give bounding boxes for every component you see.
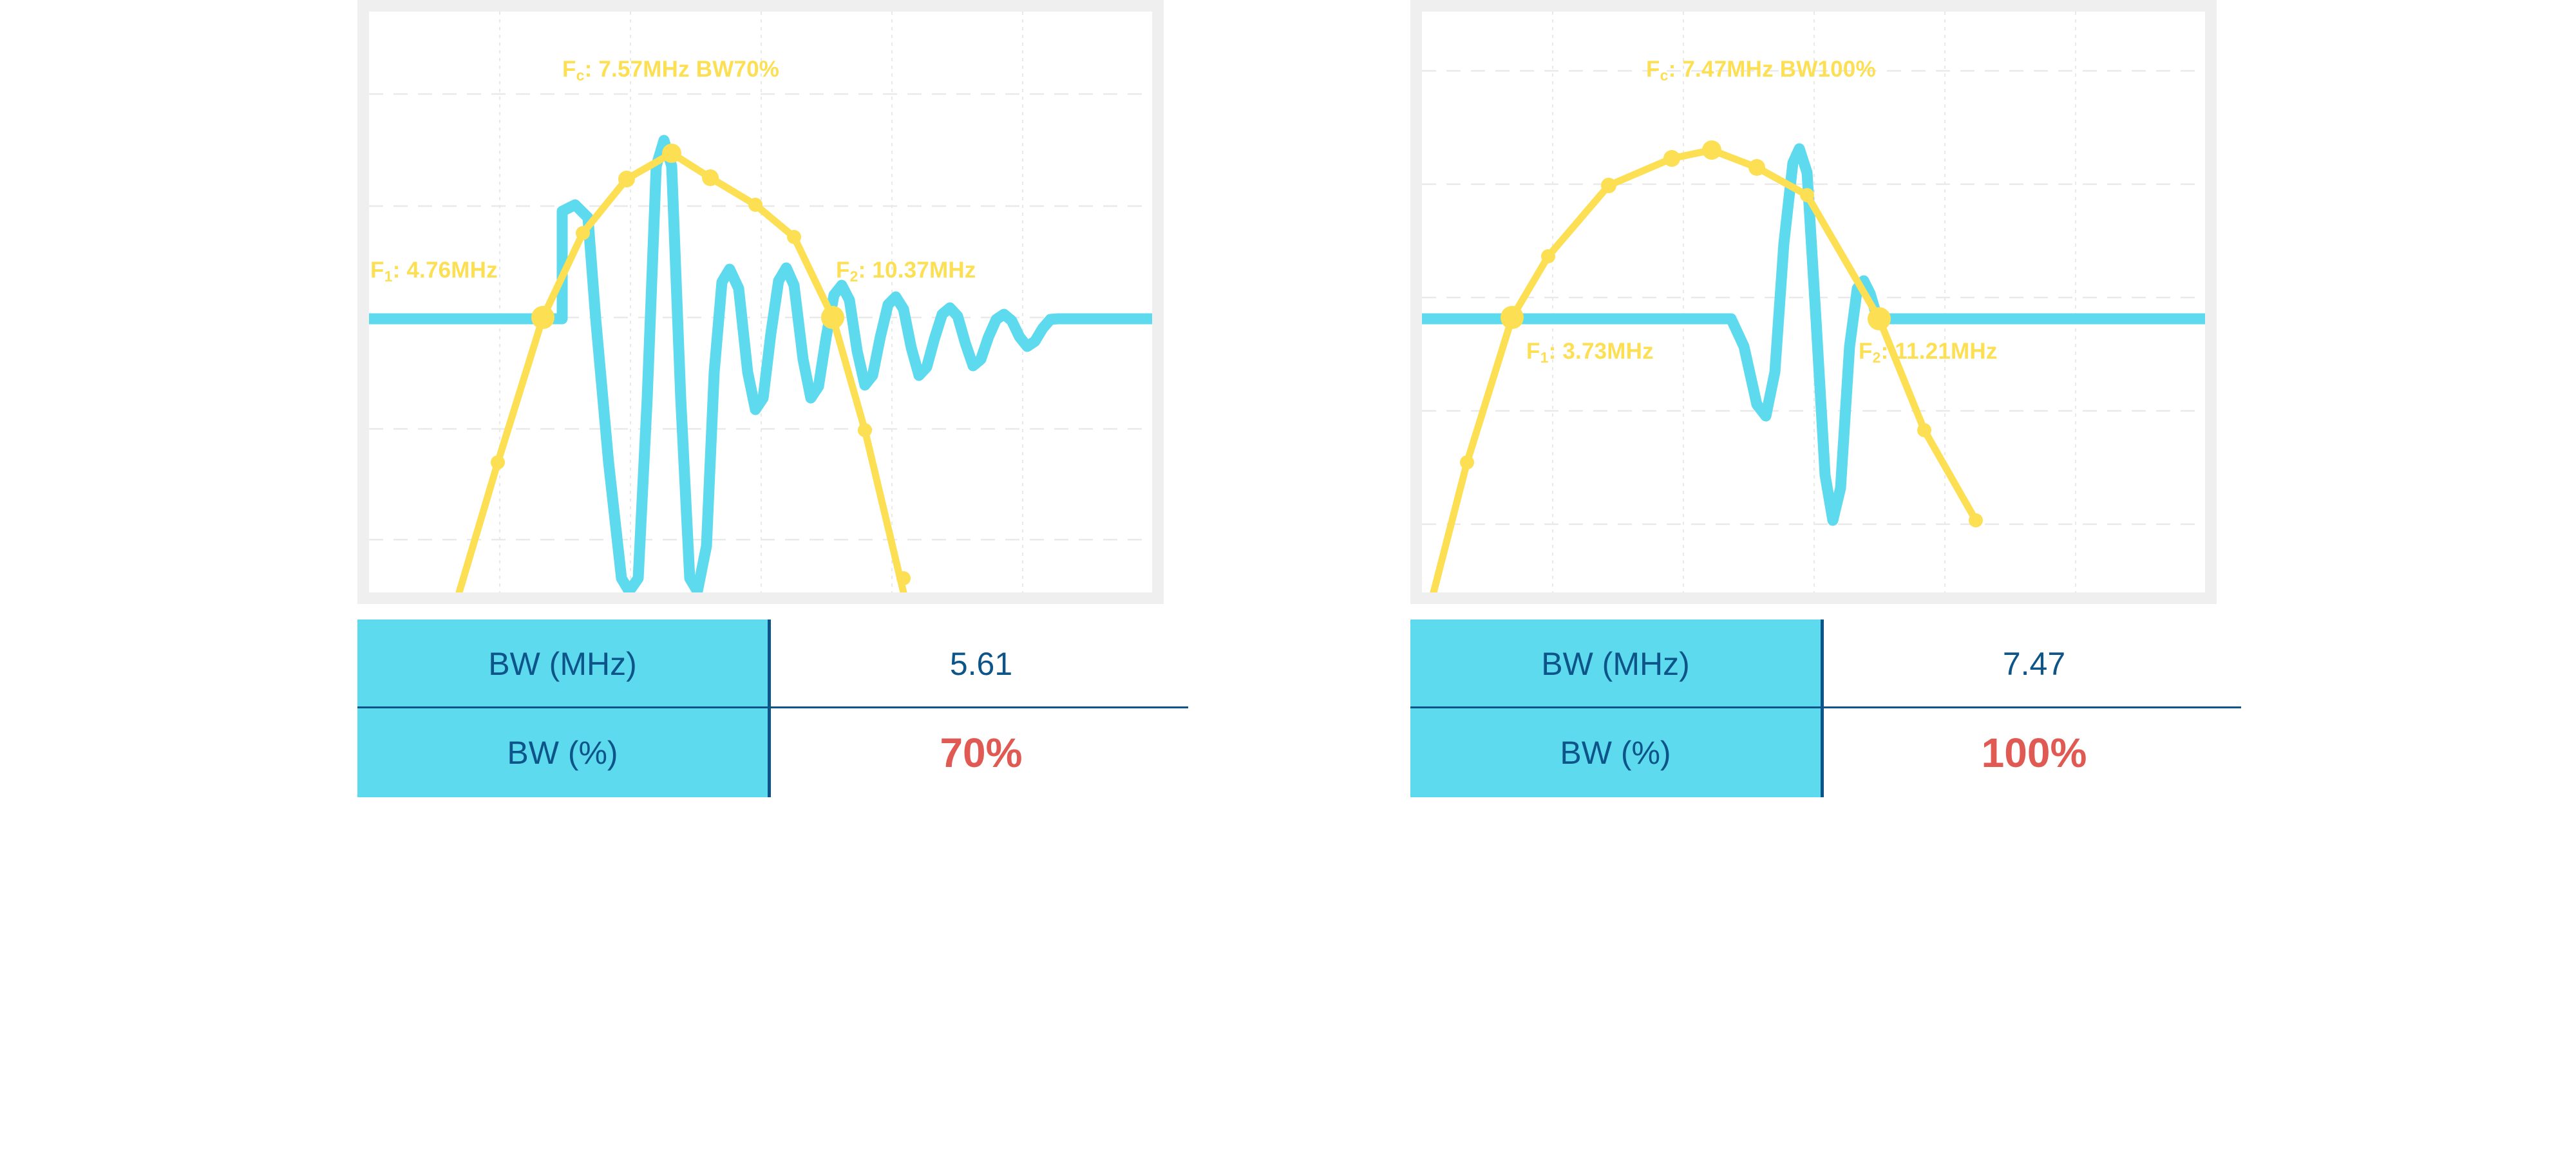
- label-fc-subscript: c: [576, 67, 585, 84]
- label-f2-text: : 11.21MHz: [1881, 339, 1998, 364]
- label-f1-symbol: F: [1526, 339, 1540, 364]
- panel-narrowband: Fc: 7.57MHz BW70% F1: 4.76MHz F2: 10.37M…: [357, 0, 1164, 604]
- table-cell-value-percent: 70%: [768, 708, 1195, 797]
- label-f2-subscript: 2: [1873, 349, 1881, 366]
- plot-frame-narrowband: Fc: 7.57MHz BW70% F1: 4.76MHz F2: 10.37M…: [357, 0, 1164, 604]
- label-f1-subscript: 1: [384, 268, 393, 285]
- table-cell-value-percent: 100%: [1821, 708, 2248, 797]
- panel-broadband: Fc: 7.47MHz BW100% F1: 3.73MHz F2: 11.21…: [1410, 0, 2217, 604]
- label-f2-symbol: F: [836, 258, 850, 283]
- table-cell-value: 7.47: [1821, 620, 2248, 708]
- table-cell-label: BW (%): [1410, 708, 1821, 797]
- gridlines-vertical: [500, 12, 1023, 592]
- bw-table-broadband: BW (MHz) 7.47 BW (%) 100%: [1410, 620, 2248, 797]
- table-column-divider: [768, 708, 771, 797]
- label-fc-subscript: c: [1660, 67, 1669, 84]
- label-upper-frequency: F2: 11.21MHz: [1859, 339, 1998, 366]
- bw-table-narrowband: BW (MHz) 5.61 BW (%) 70%: [357, 620, 1195, 797]
- label-f1-subscript: 1: [1540, 349, 1549, 366]
- table-cell-label: BW (%): [357, 708, 768, 797]
- plot-area-narrowband: Fc: 7.57MHz BW70% F1: 4.76MHz F2: 10.37M…: [369, 12, 1152, 592]
- label-lower-frequency: F1: 3.73MHz: [1526, 339, 1654, 366]
- label-f1-text: : 3.73MHz: [1549, 339, 1654, 364]
- table-row: BW (%) 100%: [1410, 708, 2248, 797]
- table-row: BW (MHz) 5.61: [357, 620, 1195, 708]
- chart-broadband: [1422, 12, 2205, 592]
- spectrum-curve: [1434, 150, 1976, 592]
- chart-narrowband: [369, 12, 1152, 592]
- table-column-divider: [768, 620, 771, 708]
- label-f2-subscript: 2: [850, 268, 858, 285]
- label-upper-frequency: F2: 10.37MHz: [836, 258, 976, 285]
- table-row: BW (MHz) 7.47: [1410, 620, 2248, 708]
- plot-frame-broadband: Fc: 7.47MHz BW100% F1: 3.73MHz F2: 11.21…: [1410, 0, 2217, 604]
- table-cell-value: 5.61: [768, 620, 1195, 708]
- plot-area-broadband: Fc: 7.47MHz BW100% F1: 3.73MHz F2: 11.21…: [1422, 12, 2205, 592]
- spectrum-markers: [1460, 140, 1983, 527]
- label-fc-text: : 7.57MHz BW70%: [585, 57, 780, 82]
- label-lower-frequency: F1: 4.76MHz: [370, 258, 498, 285]
- label-f1-text: : 4.76MHz: [393, 258, 498, 283]
- label-fc-symbol: F: [562, 57, 576, 82]
- label-center-frequency: Fc: 7.57MHz BW70%: [562, 57, 779, 84]
- table-cell-label: BW (MHz): [357, 620, 768, 708]
- label-fc-text: : 7.47MHz BW100%: [1669, 57, 1876, 82]
- label-fc-symbol: F: [1646, 57, 1660, 82]
- label-f1-symbol: F: [370, 258, 384, 283]
- table-column-divider: [1821, 620, 1824, 708]
- table-row: BW (%) 70%: [357, 708, 1195, 797]
- label-f2-text: : 10.37MHz: [858, 258, 976, 283]
- label-center-frequency: Fc: 7.47MHz BW100%: [1646, 57, 1876, 84]
- table-column-divider: [1821, 708, 1824, 797]
- table-cell-label: BW (MHz): [1410, 620, 1821, 708]
- label-f2-symbol: F: [1859, 339, 1873, 364]
